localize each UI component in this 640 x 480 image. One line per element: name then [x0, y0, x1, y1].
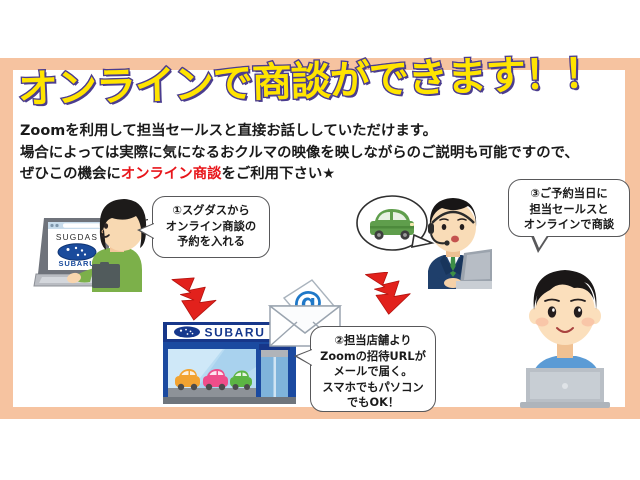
poster-title-wrap: オンラインで商談ができます！！	[18, 64, 618, 118]
bubble-2-line-5: でもOK！	[318, 395, 428, 411]
speech-bubble-step-1: ①スグダスから オンライン商談の 予約を入れる	[152, 196, 270, 258]
red-arrow-down-right-icon	[166, 276, 222, 322]
body-line-3-pre: ぜひこの機会に	[20, 166, 121, 182]
svg-text:SUGDAS: SUGDAS	[56, 232, 98, 242]
bubble-2-line-2: Zoomの招待URLが	[318, 349, 428, 365]
poster-body-copy: Zoomを利用して担当セールスと直接お話ししていただけます。 場合によっては実際…	[20, 121, 620, 186]
arrow-1-svg	[166, 276, 222, 322]
body-line-1: Zoomを利用して担当セールスと直接お話ししていただけます。	[20, 121, 620, 143]
bubble-1-line-3: 予約を入れる	[160, 234, 262, 250]
shop-sign-text: SUBARU	[205, 326, 266, 340]
customer-booking-svg: SUGDAS SUBARU	[32, 196, 148, 292]
bubble-1-tail-inner	[140, 224, 154, 238]
bubble-3-line-3: オンラインで商談	[516, 217, 622, 233]
illustration-customer-booking: SUGDAS SUBARU	[32, 196, 148, 292]
bubble-3-tail-inner	[533, 234, 548, 248]
customer-online-svg	[512, 256, 618, 408]
bubble-1-line-2: オンライン商談の	[160, 219, 262, 235]
speech-bubble-step-3: ③ご予約当日に 担当セールスと オンラインで商談	[508, 179, 630, 237]
speech-bubble-step-2: ②担当店舗より Zoomの招待URLが メールで届く。 スマホでもパソコン でも…	[310, 326, 436, 412]
bubble-2-tail-inner	[297, 350, 312, 365]
bubble-2-line-1: ②担当店舗より	[318, 333, 428, 349]
illustration-sales-staff	[356, 191, 492, 289]
illustration-customer-online	[512, 256, 618, 408]
bubble-2-line-4: スマホでもパソコン	[318, 380, 428, 396]
bubble-1-line-1: ①スグダスから	[160, 203, 262, 219]
bubble-2-line-3: メールで届く。	[318, 364, 428, 380]
body-line-3-post: をご利用下さい★	[222, 166, 336, 182]
bubble-3-line-2: 担当セールスと	[516, 202, 622, 218]
body-line-2: 場合によっては実際に気になるおクルマの映像を映しながらのご説明も可能ですので、	[20, 143, 620, 165]
body-line-3-highlight: オンライン商談	[121, 166, 222, 182]
svg-text:SUBARU: SUBARU	[59, 259, 96, 268]
bubble-3-line-1: ③ご予約当日に	[516, 186, 622, 202]
promo-poster: オンラインで商談ができます！！ Zoomを利用して担当セールスと直接お話ししてい…	[0, 0, 640, 480]
sales-staff-svg	[356, 191, 492, 289]
